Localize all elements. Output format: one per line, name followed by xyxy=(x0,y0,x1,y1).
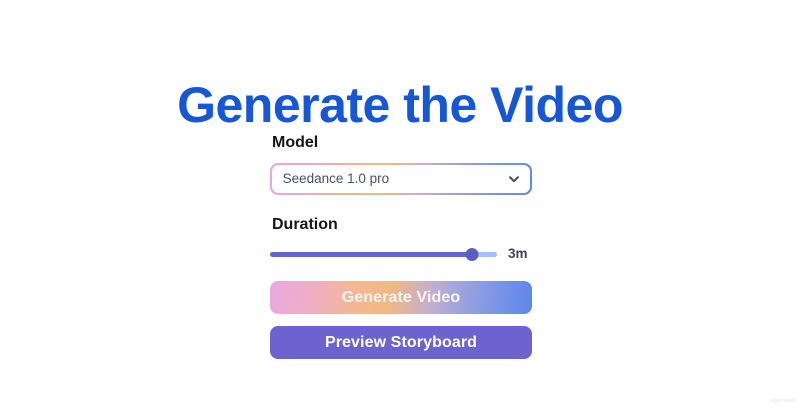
duration-slider[interactable] xyxy=(270,247,497,261)
model-select-value: Seedance 1.0 pro xyxy=(283,171,390,187)
slider-thumb[interactable] xyxy=(466,248,479,261)
duration-value: 3m xyxy=(508,246,528,262)
duration-label: Duration xyxy=(272,215,532,235)
page-title: Generate the Video xyxy=(0,74,800,136)
preview-storyboard-button[interactable]: Preview Storyboard xyxy=(270,326,532,359)
model-select-inner[interactable]: Seedance 1.0 pro xyxy=(272,165,531,194)
app-root: Generate the Video Model Seedance 1.0 pr… xyxy=(0,0,800,408)
generate-video-button[interactable]: Generate Video xyxy=(270,281,532,314)
model-select[interactable]: Seedance 1.0 pro xyxy=(270,163,532,195)
duration-slider-row: 3m xyxy=(270,247,532,261)
slider-fill xyxy=(270,252,472,257)
duration-field: Duration 3m xyxy=(270,215,532,261)
chevron-down-icon[interactable] xyxy=(507,172,521,186)
watermark: watermark xyxy=(770,398,796,405)
video-generation-form: Model Seedance 1.0 pro Duration xyxy=(270,133,532,359)
model-label: Model xyxy=(272,133,532,153)
